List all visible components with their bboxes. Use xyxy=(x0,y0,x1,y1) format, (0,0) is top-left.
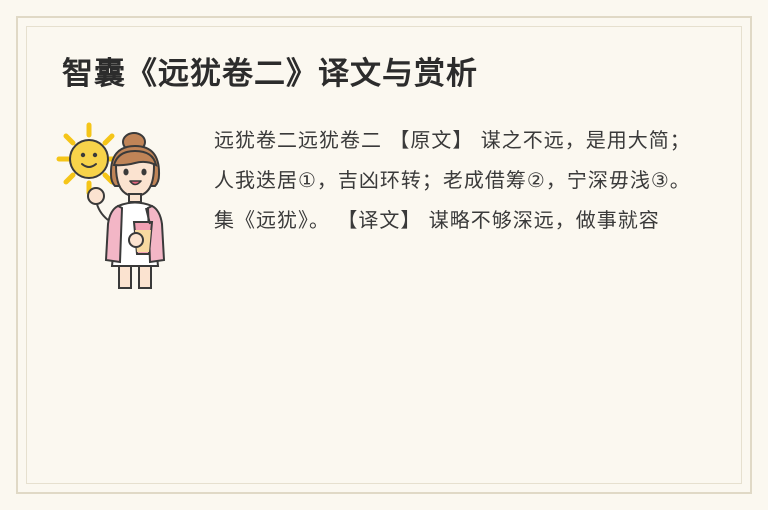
page-content: 智囊《远犹卷二》译文与赏析 xyxy=(26,26,742,484)
girl-with-sun-and-drink-icon xyxy=(56,120,206,310)
article-paragraph: 远犹卷二远犹卷二 【原文】 谋之不远，是用大简；人我迭居①，吉凶环转；老成借筹②… xyxy=(214,120,702,240)
sun-icon xyxy=(59,125,119,193)
page-title: 智囊《远犹卷二》译文与赏析 xyxy=(56,54,712,94)
document-page: 智囊《远犹卷二》译文与赏析 xyxy=(0,0,768,510)
article-body-row: 远犹卷二远犹卷二 【原文】 谋之不远，是用大简；人我迭居①，吉凶环转；老成借筹②… xyxy=(56,120,712,310)
article-text: 远犹卷二远犹卷二 【原文】 谋之不远，是用大简；人我迭居①，吉凶环转；老成借筹②… xyxy=(206,120,712,240)
illustration xyxy=(56,120,206,310)
